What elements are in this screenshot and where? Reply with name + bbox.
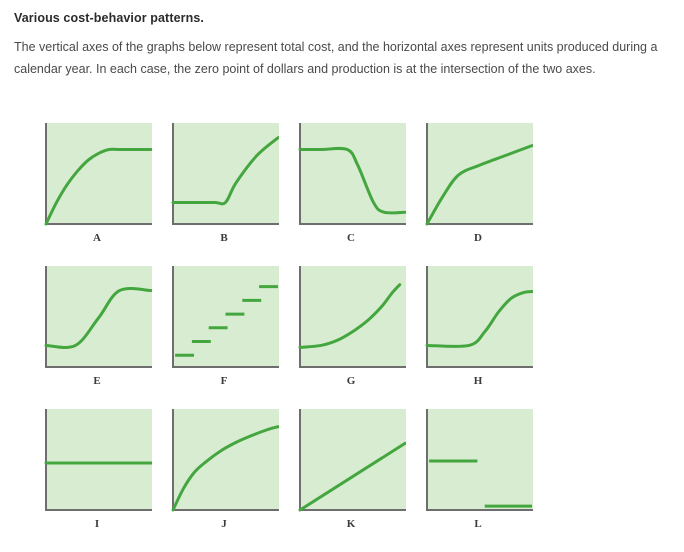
graph-cell-b: B (169, 123, 279, 245)
plot-svg-d (423, 123, 533, 228)
graph-label-i: I (42, 514, 152, 531)
graph-cell-c: C (296, 123, 406, 245)
graph-label-k: K (296, 514, 406, 531)
plot-background (300, 266, 406, 367)
plot-svg-j (169, 409, 279, 514)
graph-cell-d: D (423, 123, 533, 245)
plot-svg-l (423, 409, 533, 514)
graph-cell-i: I (42, 409, 152, 531)
graph-label-f: F (169, 371, 279, 388)
graph-label-a: A (42, 228, 152, 245)
plot-svg-i (42, 409, 152, 514)
graph-label-j: J (169, 514, 279, 531)
plot-b (169, 123, 279, 228)
plot-background (300, 409, 406, 510)
plot-i (42, 409, 152, 514)
graph-cell-g: G (296, 266, 406, 388)
plot-svg-f (169, 266, 279, 371)
plot-k (296, 409, 406, 514)
graph-label-l: L (423, 514, 533, 531)
graph-cell-f: F (169, 266, 279, 388)
plot-f (169, 266, 279, 371)
plot-svg-g (296, 266, 406, 371)
plot-background (173, 266, 279, 367)
graph-grid: A B C D E F (42, 123, 533, 552)
plot-background (427, 123, 533, 224)
plot-svg-a (42, 123, 152, 228)
intro-paragraph: The vertical axes of the graphs below re… (14, 36, 670, 80)
plot-svg-c (296, 123, 406, 228)
plot-g (296, 266, 406, 371)
plot-svg-e (42, 266, 152, 371)
graph-cell-a: A (42, 123, 152, 245)
plot-svg-h (423, 266, 533, 371)
plot-background (46, 409, 152, 510)
graph-row-3: I J K L (42, 409, 533, 531)
graph-cell-e: E (42, 266, 152, 388)
graph-label-e: E (42, 371, 152, 388)
worksheet-page: Various cost-behavior patterns. The vert… (0, 0, 684, 519)
plot-d (423, 123, 533, 228)
plot-background (46, 123, 152, 224)
graph-cell-l: L (423, 409, 533, 531)
graph-cell-h: H (423, 266, 533, 388)
plot-j (169, 409, 279, 514)
plot-l (423, 409, 533, 514)
graph-label-g: G (296, 371, 406, 388)
plot-a (42, 123, 152, 228)
graph-label-d: D (423, 228, 533, 245)
plot-background (173, 123, 279, 224)
plot-svg-b (169, 123, 279, 228)
graph-label-h: H (423, 371, 533, 388)
plot-background (427, 266, 533, 367)
graph-cell-k: K (296, 409, 406, 531)
plot-c (296, 123, 406, 228)
graph-label-b: B (169, 228, 279, 245)
graph-row-1: A B C D (42, 123, 533, 245)
plot-background (300, 123, 406, 224)
page-title: Various cost-behavior patterns. (14, 10, 670, 26)
plot-svg-k (296, 409, 406, 514)
graph-label-c: C (296, 228, 406, 245)
plot-e (42, 266, 152, 371)
graph-row-2: E F G H (42, 266, 533, 388)
graph-cell-j: J (169, 409, 279, 531)
plot-background (173, 409, 279, 510)
plot-h (423, 266, 533, 371)
